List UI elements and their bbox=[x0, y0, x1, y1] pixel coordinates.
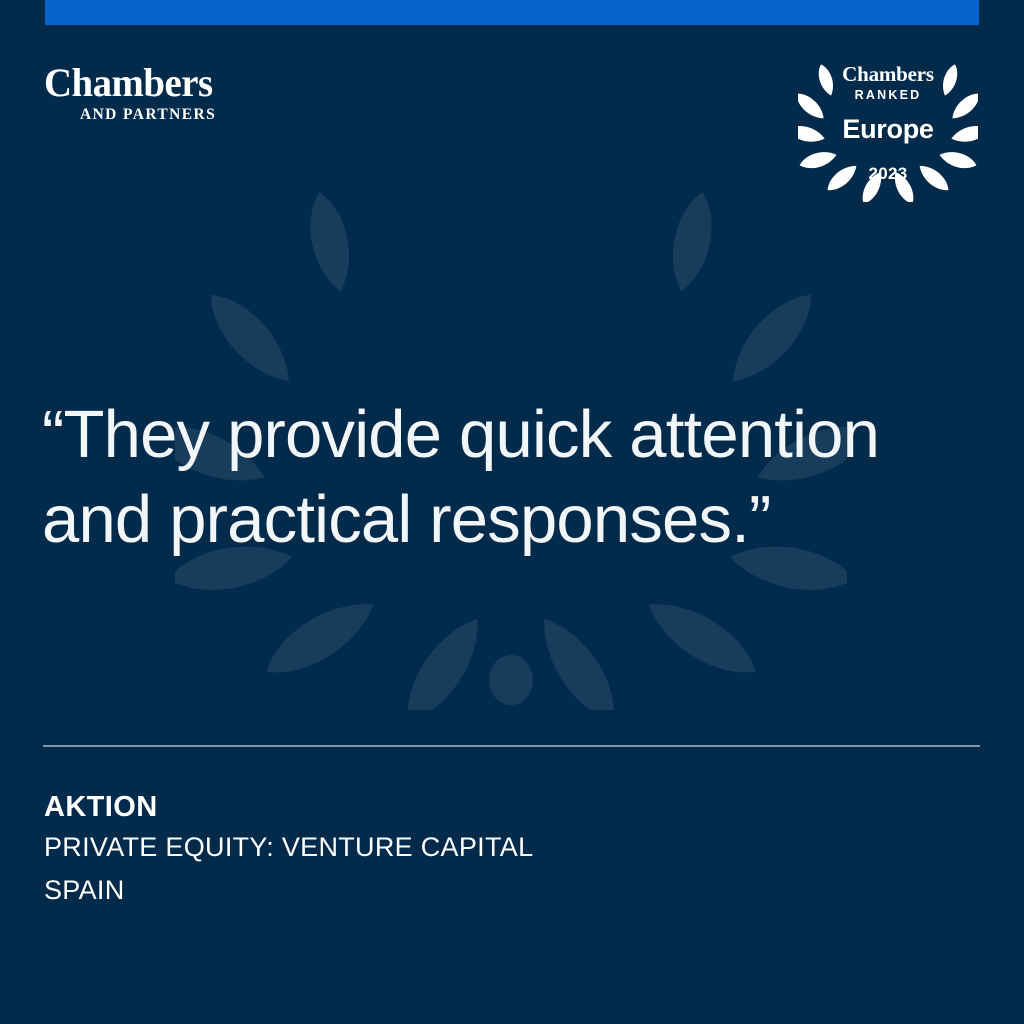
horizontal-divider bbox=[43, 745, 980, 747]
ranking-metadata: AKTION PRIVATE EQUITY: VENTURE CAPITAL S… bbox=[44, 788, 533, 912]
pull-quote: “They provide quick attention and practi… bbox=[42, 392, 942, 562]
badge-year-label: 2023 bbox=[798, 164, 978, 184]
jurisdiction: SPAIN bbox=[44, 869, 533, 912]
practice-area: PRIVATE EQUITY: VENTURE CAPITAL bbox=[44, 826, 533, 869]
logo-subtitle: AND PARTNERS bbox=[80, 106, 294, 124]
logo-wordmark: Chambers bbox=[44, 62, 287, 104]
quote-line-1: “They provide quick attention bbox=[42, 392, 942, 477]
firm-name: AKTION bbox=[44, 788, 533, 826]
chambers-and-partners-logo: Chambers AND PARTNERS bbox=[44, 62, 294, 124]
badge-brand-label: Chambers bbox=[798, 62, 978, 87]
chambers-ranking-card: Chambers AND PARTNERS bbox=[0, 0, 1024, 1024]
badge-status-label: RANKED bbox=[798, 88, 978, 102]
top-accent-bar bbox=[45, 0, 979, 25]
chambers-ranked-badge: Chambers RANKED Europe 2023 bbox=[798, 52, 978, 202]
quote-line-2: and practical responses.” bbox=[42, 477, 942, 562]
badge-region-label: Europe bbox=[798, 114, 978, 145]
